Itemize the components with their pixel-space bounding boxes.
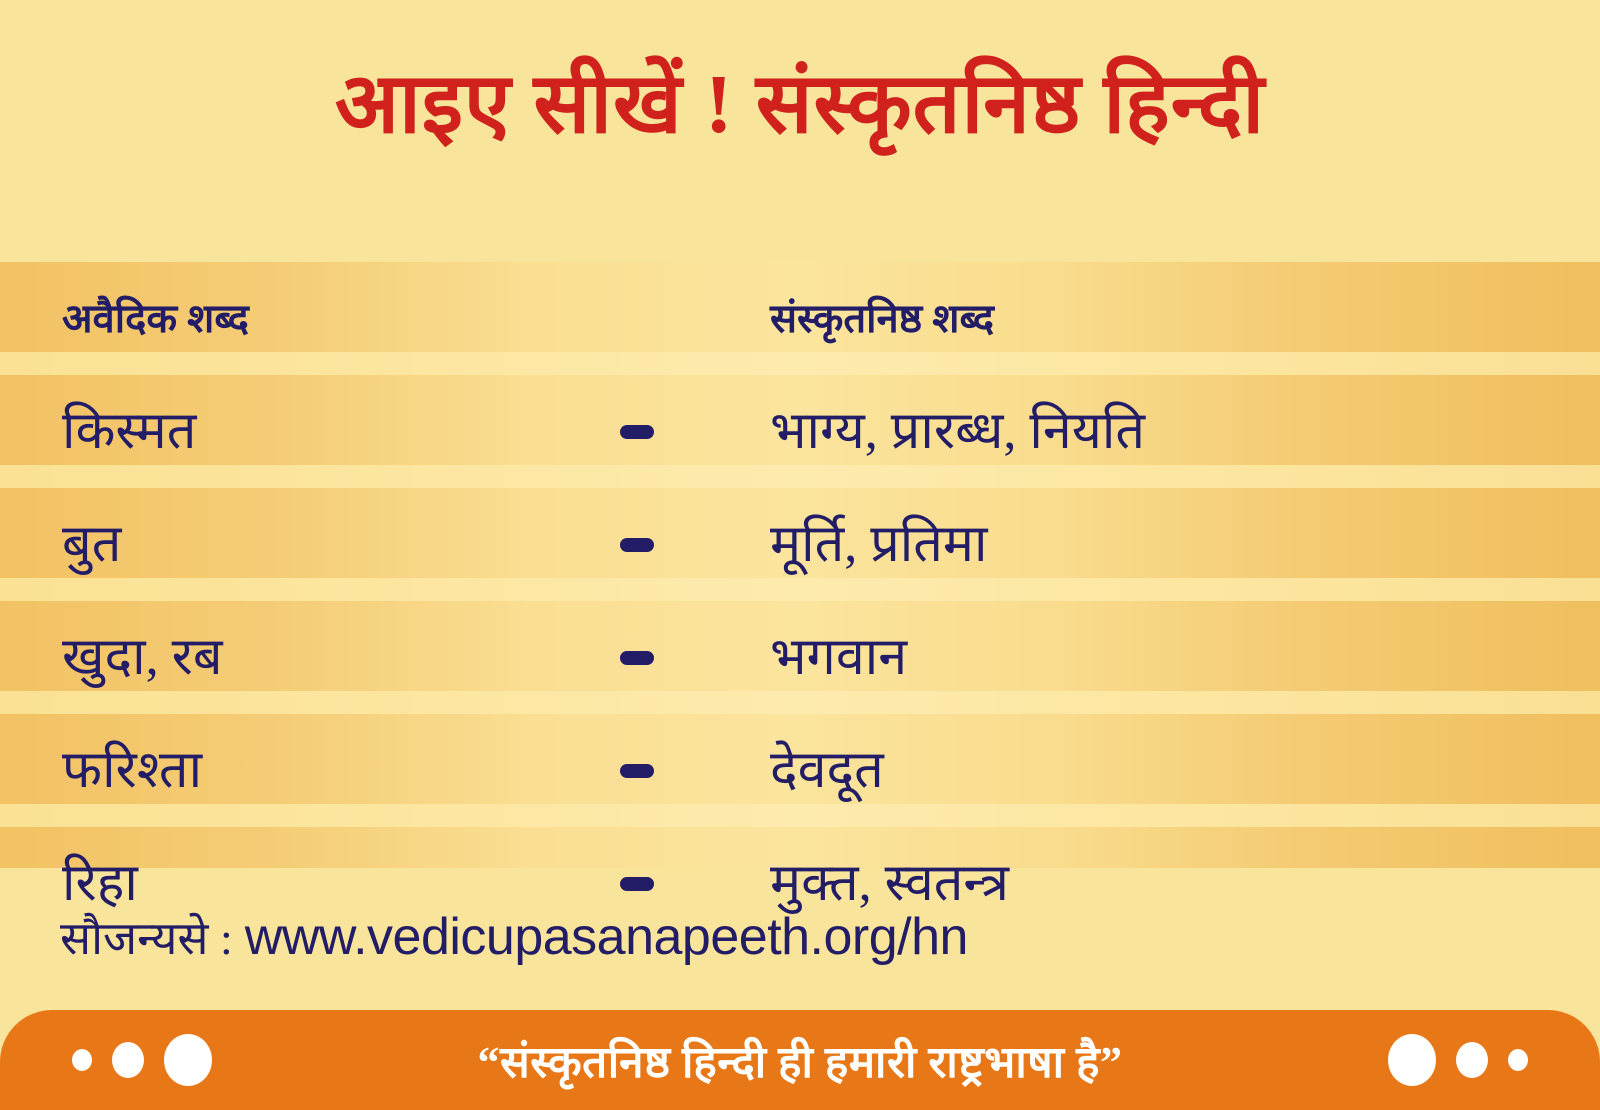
circle-icon [1456,1042,1488,1078]
table-row: बुत मूर्ति, प्रतिमा [0,488,1600,601]
circle-icon [112,1042,144,1078]
word-sanskritnishth: भगवान [770,629,1560,686]
table-header-row: अवैदिक शब्द संस्कृतनिष्ठ शब्द [0,262,1600,375]
dash-icon [620,651,654,665]
separator-dash [620,538,680,552]
separator-dash [620,764,680,778]
poster-title-bar: आइए सीखें ! संस्कृतनिष्ठ हिन्दी [0,38,1600,173]
banner-slogan: “संस्कृतनिष्ठ हिन्दी ही हमारी राष्ट्रभाष… [478,1030,1123,1090]
banner-dots-left [72,1010,212,1110]
banner-dots-right [1388,1010,1528,1110]
circle-icon [164,1034,212,1086]
table-row: फरिश्ता देवदूत [0,714,1600,827]
table-row: किस्मत भाग्य, प्रारब्ध, नियति [0,375,1600,488]
separator-dash [620,877,680,891]
separator-dash [620,425,680,439]
separator-dash [620,651,680,665]
bottom-banner: “संस्कृतनिष्ठ हिन्दी ही हमारी राष्ट्रभाष… [0,1010,1600,1110]
dash-icon [620,764,654,778]
page-title: आइए सीखें ! संस्कृतनिष्ठ हिन्दी [335,58,1265,152]
courtesy-line: सौजन्यसे : www.vedicupasanapeeth.org/hn [60,902,1360,972]
bottom-banner-inner: “संस्कृतनिष्ठ हिन्दी ही हमारी राष्ट्रभाष… [0,1010,1600,1110]
table-row: खुदा, रब भगवान [0,601,1600,714]
word-avaidik: फरिश्ता [62,742,602,799]
word-table: अवैदिक शब्द संस्कृतनिष्ठ शब्द किस्मत भाग… [0,262,1600,882]
poster-canvas: आइए सीखें ! संस्कृतनिष्ठ हिन्दी अवैदिक श… [0,0,1600,1110]
courtesy-url[interactable]: www.vedicupasanapeeth.org/hn [245,907,968,967]
word-sanskritnishth: देवदूत [770,742,1560,799]
dash-icon [620,877,654,891]
dash-icon [620,538,654,552]
dash-icon [620,425,654,439]
word-sanskritnishth: मूर्ति, प्रतिमा [770,516,1560,573]
circle-icon [1388,1034,1436,1086]
column-header-sanskritnishth: संस्कृतनिष्ठ शब्द [770,297,1560,341]
word-avaidik: खुदा, रब [62,629,602,686]
circle-icon [1508,1049,1528,1071]
word-sanskritnishth: भाग्य, प्रारब्ध, नियति [770,403,1560,460]
column-header-avaidik: अवैदिक शब्द [62,297,602,341]
word-avaidik: बुत [62,516,602,573]
courtesy-label: सौजन्यसे : [60,906,233,968]
circle-icon [72,1049,92,1071]
word-avaidik: किस्मत [62,403,602,460]
